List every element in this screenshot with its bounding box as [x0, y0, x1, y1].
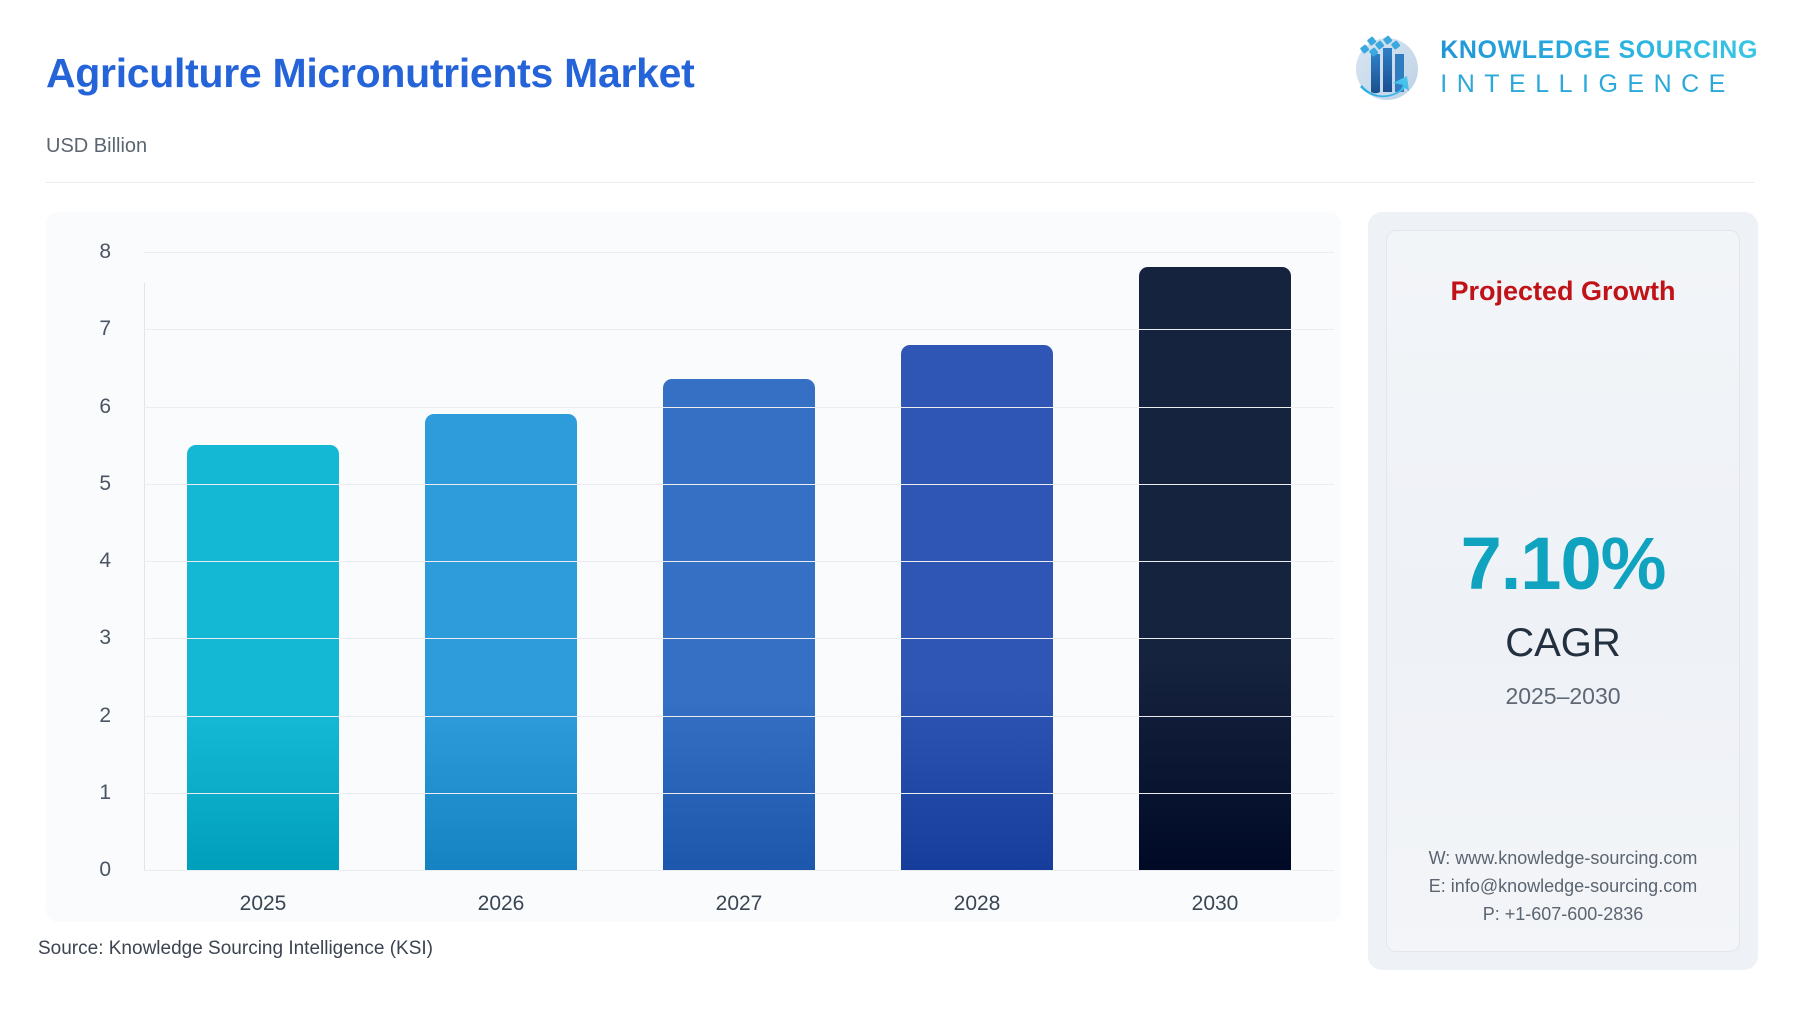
header-divider: [46, 182, 1754, 183]
logo-wordmark: KNOWLEDGE SOURCING INTELLIGENCE: [1440, 38, 1758, 97]
gridline: [144, 407, 1334, 408]
contact-block: W: www.knowledge-sourcing.com E: info@kn…: [1387, 845, 1739, 929]
cagr-period: 2025–2030: [1387, 683, 1739, 710]
cagr-value: 7.10%: [1387, 521, 1739, 606]
contact-phone[interactable]: P: +1-607-600-2836: [1387, 901, 1739, 929]
y-axis-tick-label: 2: [71, 704, 111, 728]
bar-2030[interactable]: [1139, 267, 1291, 870]
projected-growth-card: Projected Growth 7.10% CAGR 2025–2030 W:…: [1386, 230, 1740, 952]
bar-2026[interactable]: [425, 414, 577, 870]
y-axis-tick-label: 4: [71, 549, 111, 573]
gridline: [144, 561, 1334, 562]
y-axis-tick-label: 0: [71, 858, 111, 882]
gridline: [144, 716, 1334, 717]
x-axis-tick-label: 2025: [144, 892, 382, 916]
page-title: Agriculture Micronutrients Market: [46, 50, 694, 97]
bar-2027[interactable]: [663, 379, 815, 870]
bar-2025[interactable]: [187, 445, 339, 870]
gridline: [144, 484, 1334, 485]
gridline: [144, 638, 1334, 639]
y-axis-tick-label: 5: [71, 472, 111, 496]
y-axis-tick-label: 7: [71, 317, 111, 341]
cagr-label: CAGR: [1387, 621, 1739, 666]
logo-line-intelligence: INTELLIGENCE: [1440, 72, 1758, 97]
y-axis-tick-label: 8: [71, 240, 111, 264]
contact-website[interactable]: W: www.knowledge-sourcing.com: [1387, 845, 1739, 873]
gridline: [144, 870, 1334, 871]
gridline: [144, 252, 1334, 253]
bar-2028[interactable]: [901, 345, 1053, 870]
y-axis-tick-label: 1: [71, 781, 111, 805]
gridline: [144, 329, 1334, 330]
x-axis-tick-label: 2026: [382, 892, 620, 916]
x-axis-tick-label: 2030: [1096, 892, 1334, 916]
x-axis-tick-label: 2027: [620, 892, 858, 916]
contact-email[interactable]: E: info@knowledge-sourcing.com: [1387, 873, 1739, 901]
source-note: Source: Knowledge Sourcing Intelligence …: [38, 938, 433, 960]
units-subtitle: USD Billion: [46, 135, 147, 158]
brand-logo: KNOWLEDGE SOURCING INTELLIGENCE: [1348, 28, 1758, 106]
chart-card: 01234567820252026202720282030: [46, 212, 1341, 922]
logo-line-knowledge-sourcing: KNOWLEDGE SOURCING: [1440, 38, 1758, 63]
chart-infographic-page: Agriculture Micronutrients Market USD Bi…: [0, 0, 1800, 1012]
knowledge-sourcing-emblem-icon: [1348, 28, 1426, 106]
bar-chart-plot: 01234567820252026202720282030: [46, 212, 1341, 922]
header: Agriculture Micronutrients Market USD Bi…: [0, 0, 1800, 182]
y-axis-tick-label: 6: [71, 395, 111, 419]
x-axis-tick-label: 2028: [858, 892, 1096, 916]
gridline: [144, 793, 1334, 794]
projected-growth-panel: Projected Growth 7.10% CAGR 2025–2030 W:…: [1368, 212, 1758, 970]
projected-growth-heading: Projected Growth: [1387, 276, 1739, 307]
y-axis-tick-label: 3: [71, 626, 111, 650]
